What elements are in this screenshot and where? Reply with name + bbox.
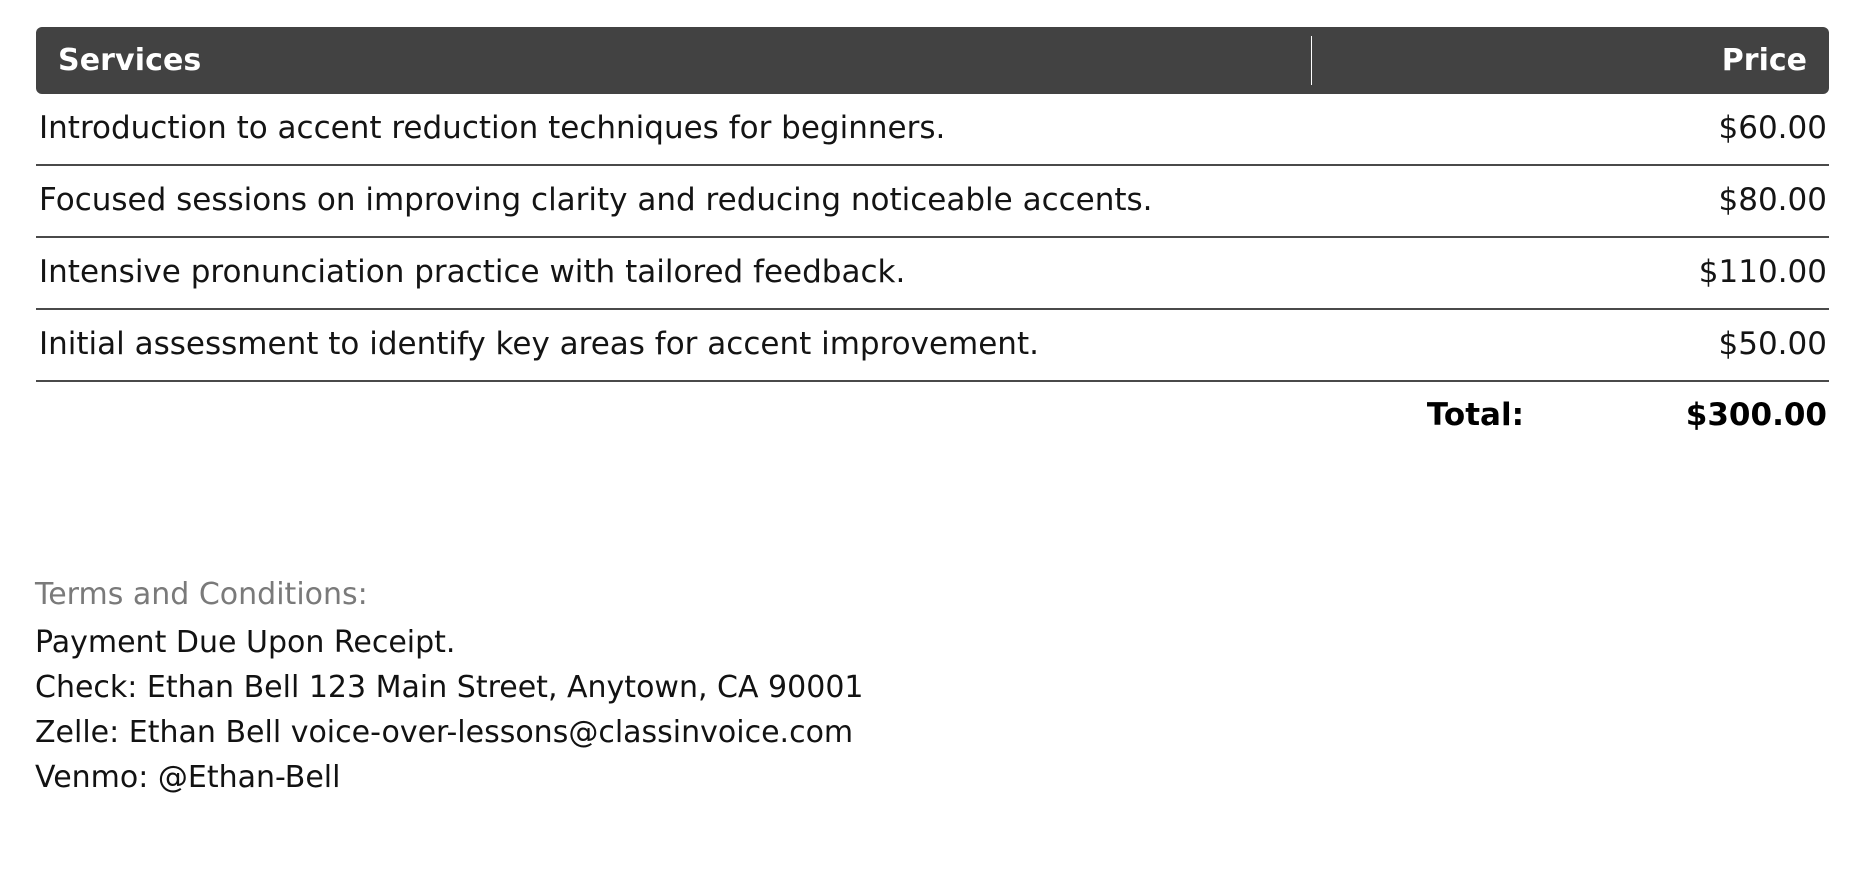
service-description: Initial assessment to identify key areas… [36,326,1469,363]
terms-and-conditions-section: Terms and Conditions: Payment Due Upon R… [35,572,1535,800]
service-price: $80.00 [1469,182,1829,219]
service-price: $110.00 [1469,254,1829,291]
terms-line-zelle: Zelle: Ethan Bell voice-over-lessons@cla… [35,710,1535,755]
table-body: Introduction to accent reduction techniq… [36,94,1829,382]
total-amount: $300.00 [1572,397,1829,433]
service-description: Intensive pronunciation practice with ta… [36,254,1469,291]
column-header-price: Price [1312,36,1829,85]
table-row: Introduction to accent reduction techniq… [36,94,1829,166]
service-price: $60.00 [1469,110,1829,147]
terms-heading: Terms and Conditions: [35,572,1535,618]
terms-line-check: Check: Ethan Bell 123 Main Street, Anyto… [35,665,1535,710]
table-row: Initial assessment to identify key areas… [36,310,1829,382]
service-price: $50.00 [1469,326,1829,363]
service-description: Introduction to accent reduction techniq… [36,110,1469,147]
total-row: Total: $300.00 [36,382,1829,448]
services-price-table: Services Price Introduction to accent re… [36,27,1829,448]
terms-line-payment-due: Payment Due Upon Receipt. [35,620,1535,665]
table-header-row: Services Price [36,27,1829,94]
service-description: Focused sessions on improving clarity an… [36,182,1469,219]
table-row: Intensive pronunciation practice with ta… [36,238,1829,310]
invoice-line-items-page: Services Price Introduction to accent re… [0,0,1868,870]
table-row: Focused sessions on improving clarity an… [36,166,1829,238]
column-header-services: Services [36,36,1312,85]
terms-line-venmo: Venmo: @Ethan-Bell [35,755,1535,800]
total-label: Total: [36,397,1572,433]
